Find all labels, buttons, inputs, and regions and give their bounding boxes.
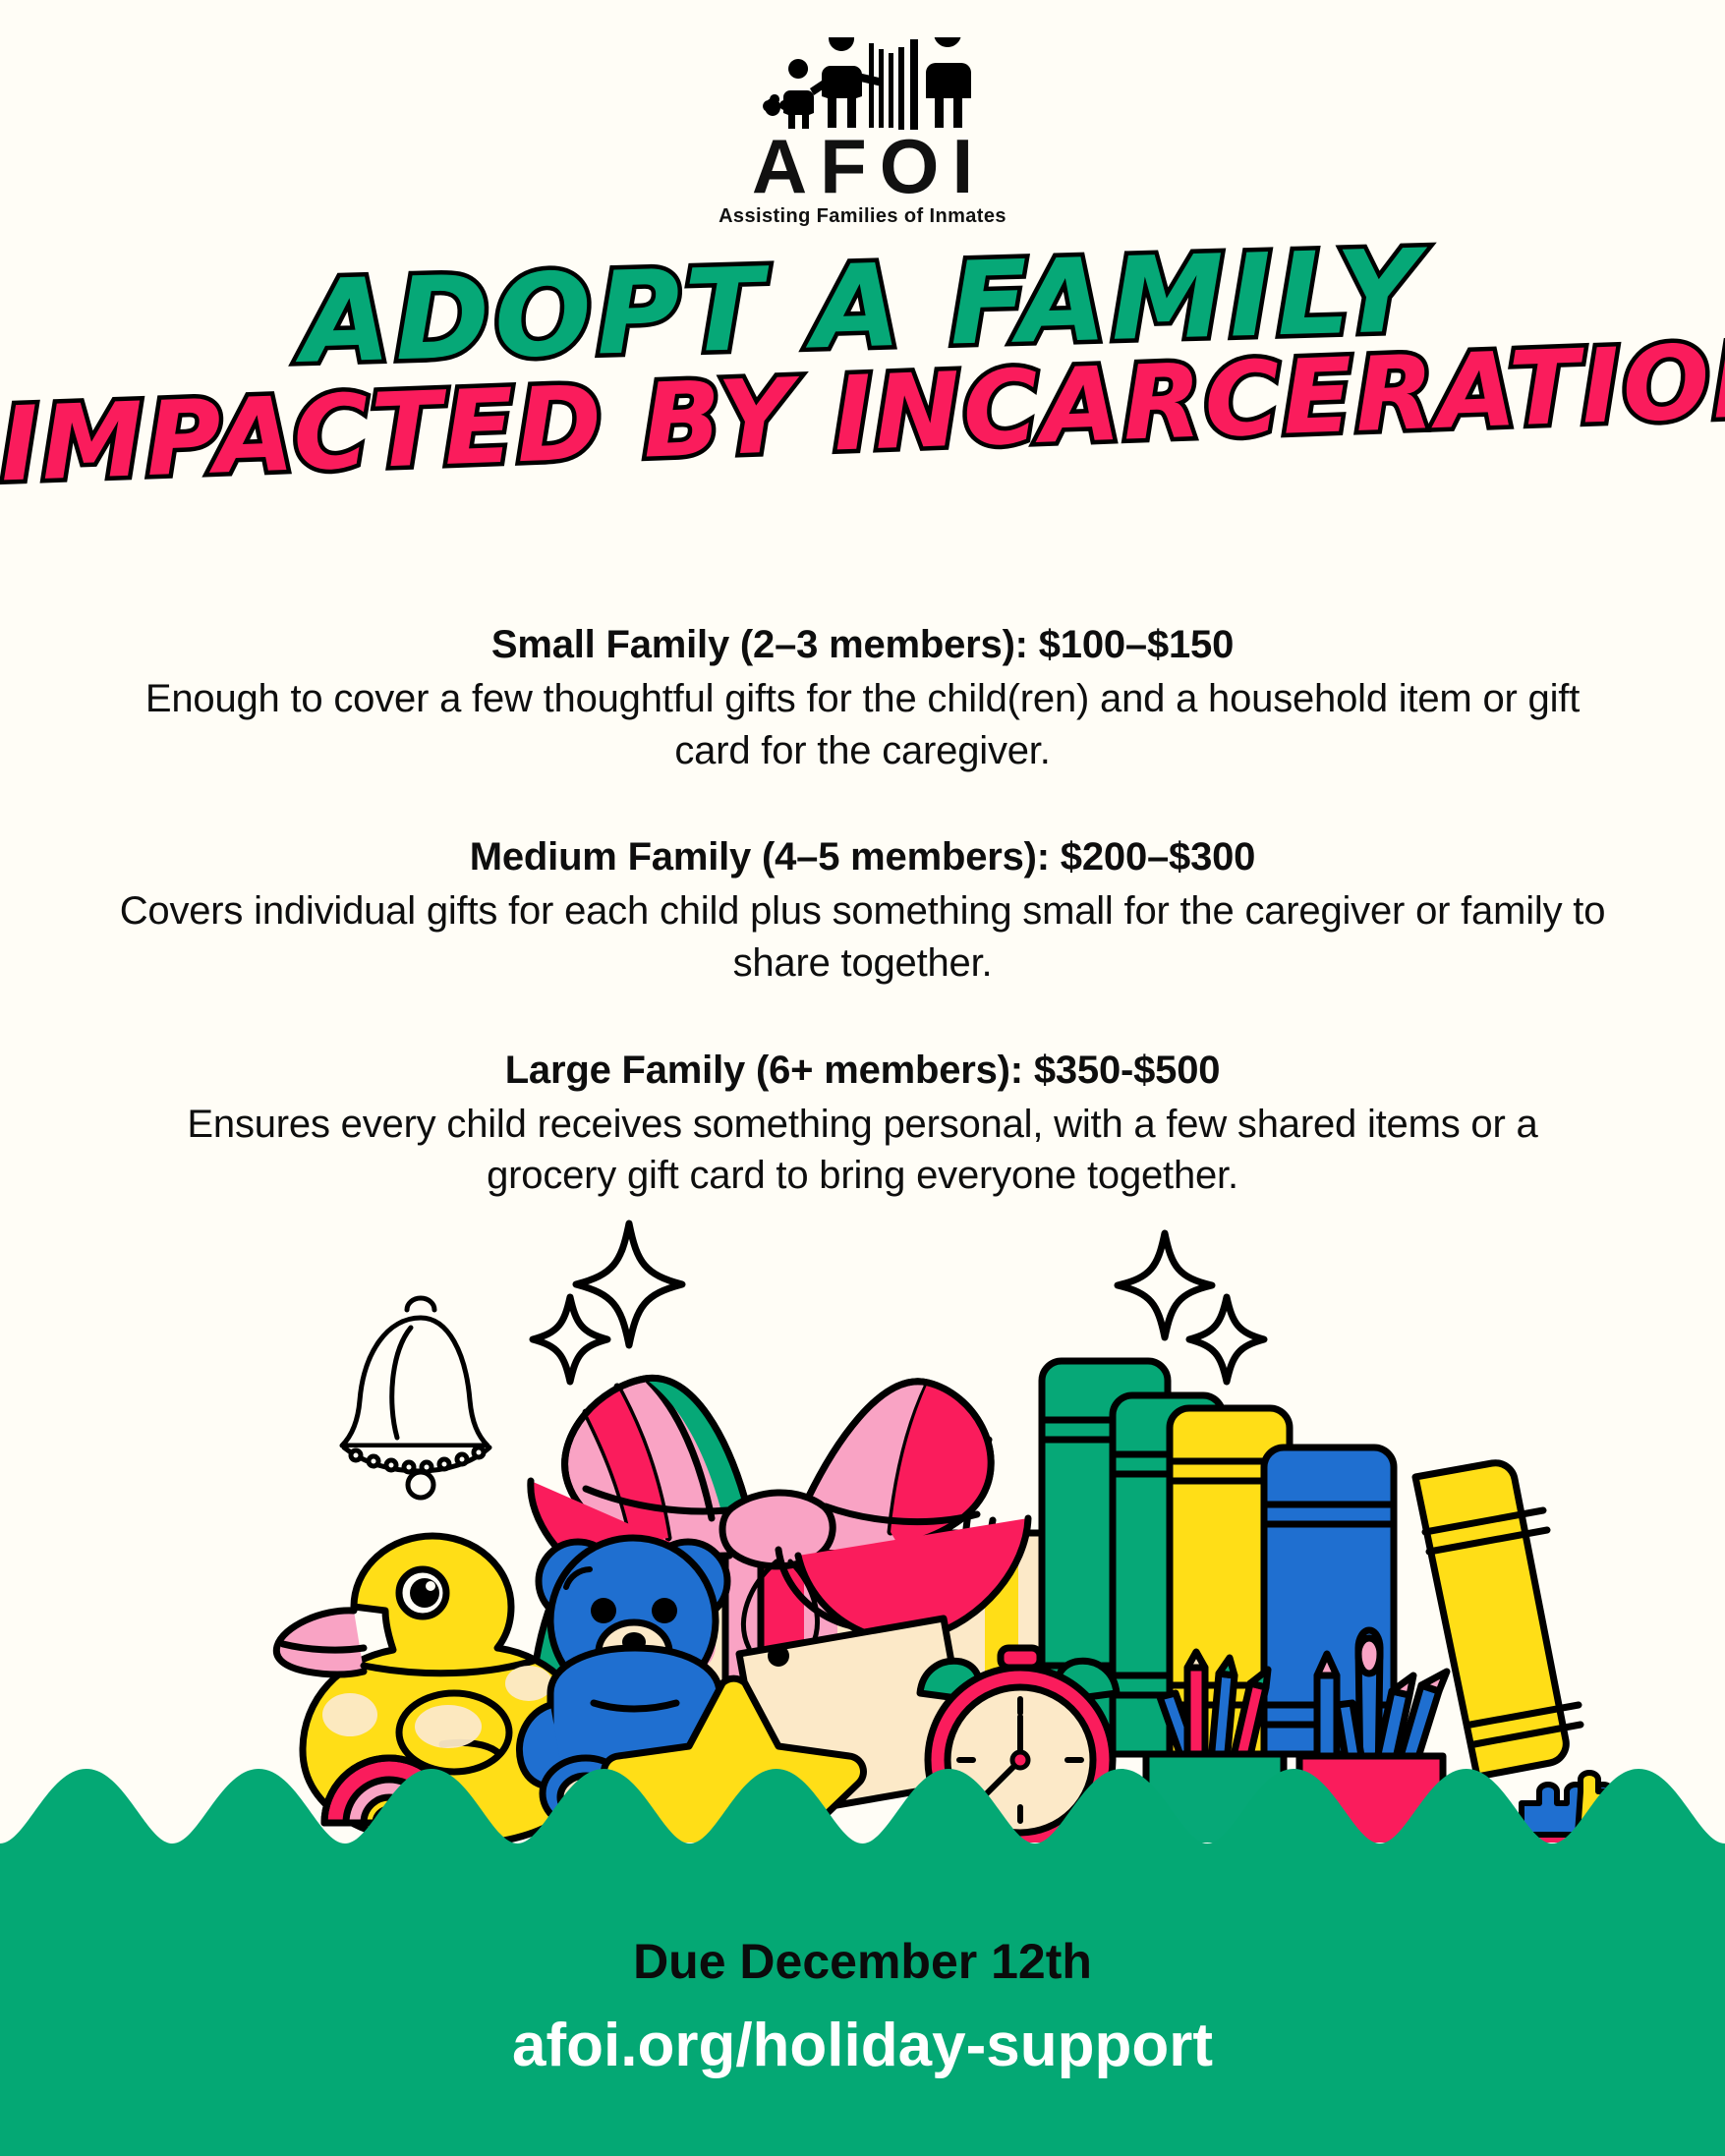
jingle-bell	[342, 1298, 489, 1498]
logo-tagline: Assisting Families of Inmates	[719, 205, 1006, 228]
tier-small: Small Family (2–3 members): $100–$150 En…	[118, 619, 1607, 776]
headline-line-2: IMPACTED BY INCARCERATION	[0, 327, 1725, 495]
tier-small-heading: Small Family (2–3 members): $100–$150	[118, 619, 1607, 671]
tier-medium-body: Covers individual gifts for each child p…	[118, 885, 1607, 990]
donation-tiers: Small Family (2–3 members): $100–$150 En…	[118, 619, 1607, 1202]
footer-text: Due December 12th afoi.org/holiday-suppo…	[0, 1935, 1725, 2080]
tier-medium: Medium Family (4–5 members): $200–$300 C…	[118, 831, 1607, 989]
tier-large-heading: Large Family (6+ members): $350-$500	[118, 1045, 1607, 1097]
due-date-text: Due December 12th	[0, 1935, 1725, 1989]
tier-large-body: Ensures every child receives something p…	[118, 1099, 1607, 1203]
family-behind-bars-icon	[716, 37, 1010, 136]
footer-band: Due December 12th afoi.org/holiday-suppo…	[0, 1733, 1725, 2156]
tier-small-body: Enough to cover a few thoughtful gifts f…	[118, 673, 1607, 777]
sparkle-stars	[533, 1223, 1264, 1382]
logo-wordmark: AFOI	[752, 130, 986, 202]
tier-large: Large Family (6+ members): $350-$500 Ens…	[118, 1045, 1607, 1202]
poster-canvas: AFOI Assisting Families of Inmates ADOPT…	[0, 0, 1725, 2156]
afoi-logo: AFOI Assisting Families of Inmates	[0, 37, 1725, 228]
headline: ADOPT A FAMILY IMPACTED BY INCARCERATION	[0, 251, 1725, 463]
signup-url[interactable]: afoi.org/holiday-support	[0, 2011, 1725, 2080]
tier-medium-heading: Medium Family (4–5 members): $200–$300	[118, 831, 1607, 883]
